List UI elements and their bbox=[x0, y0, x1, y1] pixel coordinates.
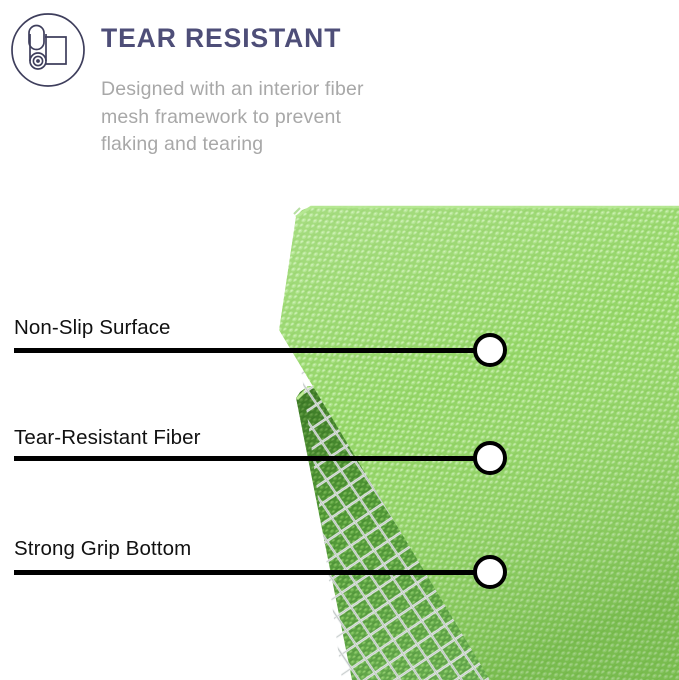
callout-dot-non-slip-surface[interactable] bbox=[473, 333, 507, 367]
callout-label-non-slip-surface: Non-Slip Surface bbox=[14, 316, 171, 340]
header: TEAR RESISTANT Designed with an interior… bbox=[0, 0, 470, 175]
description: Designed with an interior fiber mesh fra… bbox=[101, 76, 451, 159]
description-line-1: Designed with an interior fiber bbox=[101, 76, 451, 104]
description-line-3: flaking and tearing bbox=[101, 131, 451, 159]
rolled-mat-icon bbox=[10, 12, 86, 88]
callout-dot-strong-grip-bottom[interactable] bbox=[473, 555, 507, 589]
callout-line-non-slip-surface bbox=[14, 348, 492, 353]
infographic-canvas: TEAR RESISTANT Designed with an interior… bbox=[0, 0, 679, 680]
callout-line-tear-resistant-fiber bbox=[14, 456, 492, 461]
callout-line-strong-grip-bottom bbox=[14, 570, 492, 575]
callout-dot-tear-resistant-fiber[interactable] bbox=[473, 441, 507, 475]
page-title: TEAR RESISTANT bbox=[101, 24, 341, 53]
description-line-2: mesh framework to prevent bbox=[101, 104, 451, 132]
callout-label-strong-grip-bottom: Strong Grip Bottom bbox=[14, 537, 191, 561]
callout-label-tear-resistant-fiber: Tear-Resistant Fiber bbox=[14, 426, 201, 450]
